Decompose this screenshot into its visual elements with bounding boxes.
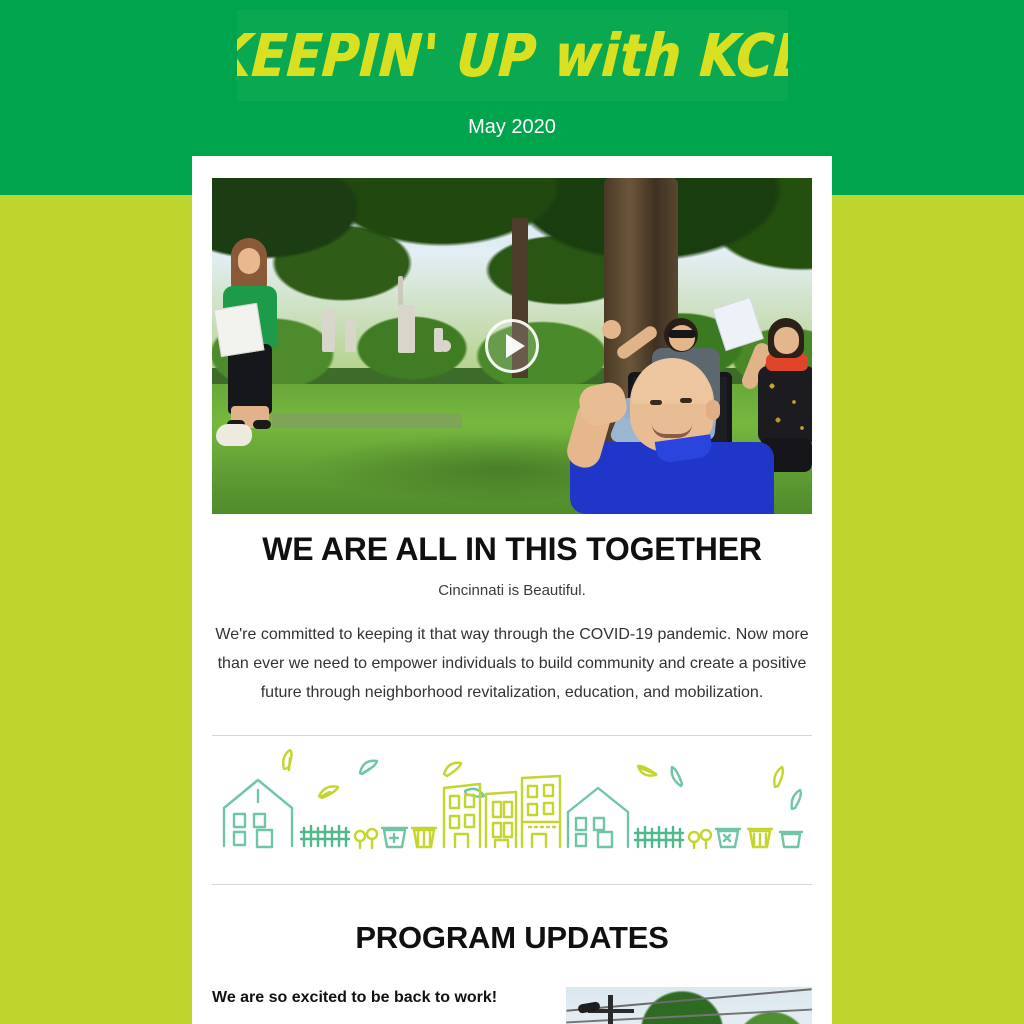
eye bbox=[650, 400, 662, 405]
neighborhood-doodle-divider bbox=[212, 746, 812, 856]
monument-stone bbox=[398, 276, 403, 308]
walking-path bbox=[272, 414, 462, 428]
hero-headline: WE ARE ALL IN THIS TOGETHER bbox=[212, 530, 812, 568]
person-foreground-waving bbox=[564, 338, 804, 514]
issue-date: May 2020 bbox=[0, 113, 1024, 141]
divider-top bbox=[212, 735, 812, 736]
clipboard bbox=[214, 303, 265, 357]
headstone bbox=[345, 318, 356, 352]
headstone bbox=[398, 305, 415, 353]
bald-scalp bbox=[632, 358, 712, 404]
update-text-column: We are so excited to be back to work! We… bbox=[212, 987, 546, 1024]
update-image-column bbox=[566, 987, 812, 1024]
video-thumbnail[interactable] bbox=[212, 178, 812, 514]
face bbox=[238, 248, 260, 274]
update-item-title: We are so excited to be back to work! bbox=[212, 987, 546, 1009]
divider-bottom bbox=[212, 884, 812, 885]
play-button-icon[interactable] bbox=[485, 319, 539, 373]
newsletter-title: KEEPIN' UP with KCB bbox=[237, 26, 788, 85]
shoe bbox=[253, 420, 271, 429]
small-white-dog bbox=[216, 424, 252, 446]
play-triangle-icon bbox=[506, 334, 525, 358]
ear bbox=[706, 400, 720, 420]
sunglasses bbox=[668, 330, 696, 338]
content-card: WE ARE ALL IN THIS TOGETHER Cincinnati i… bbox=[192, 156, 832, 1024]
eye bbox=[680, 398, 692, 403]
waving-hand bbox=[602, 320, 621, 339]
hero-subhead: Cincinnati is Beautiful. bbox=[212, 580, 812, 602]
headstone bbox=[322, 310, 335, 352]
program-updates-title: PROGRAM UPDATES bbox=[212, 919, 812, 957]
program-updates-section: We are so excited to be back to work! We… bbox=[212, 987, 812, 1024]
street-trees-photo bbox=[566, 987, 812, 1024]
hero-body-text: We're committed to keeping it that way t… bbox=[212, 620, 812, 707]
newsletter-banner: KEEPIN' UP with KCB bbox=[237, 10, 788, 101]
person-standing-left bbox=[217, 238, 287, 428]
headstone bbox=[439, 340, 451, 352]
